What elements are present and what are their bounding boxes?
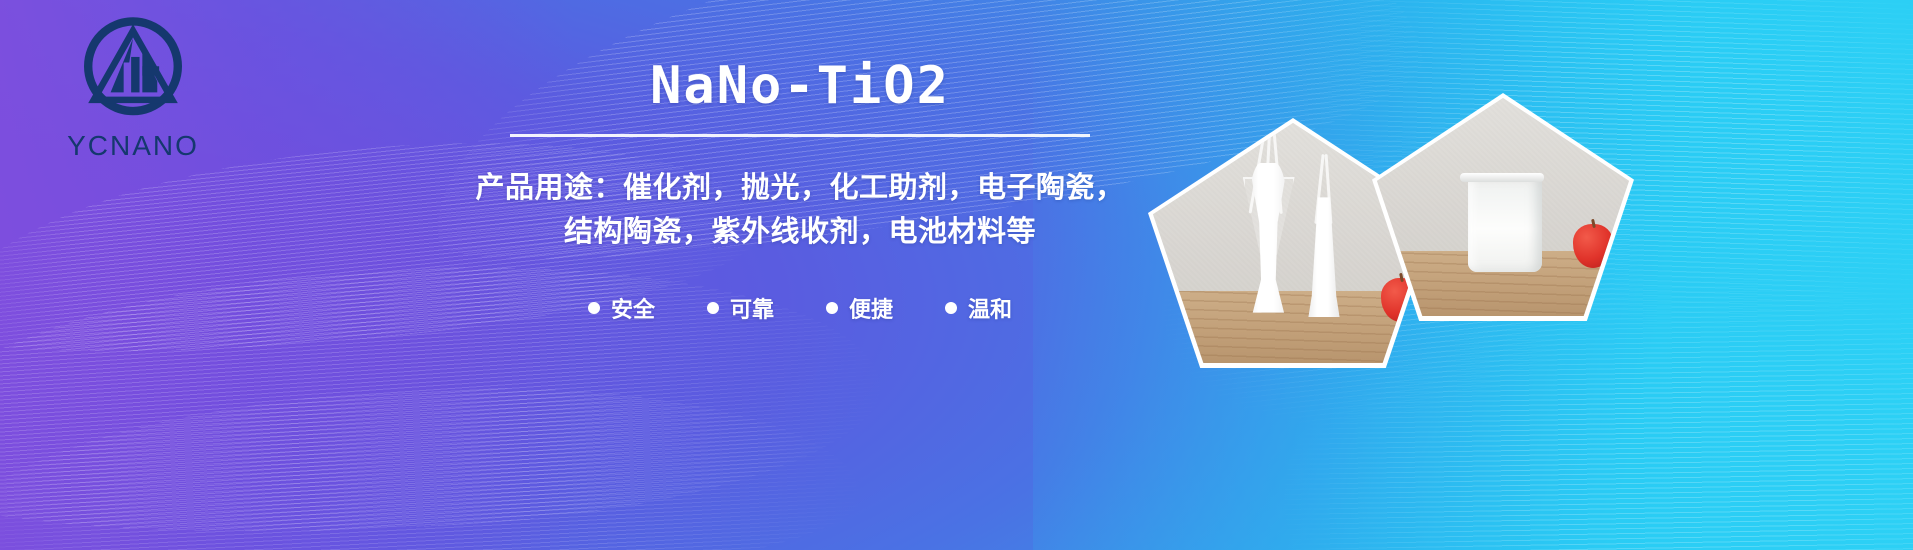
feature-label: 可靠 [730, 292, 774, 324]
beaker [1468, 176, 1542, 272]
product-banner: YCNANO NaNo-TiO2 产品用途：催化剂，抛光，化工助剂，电子陶瓷， … [0, 0, 1913, 550]
banner-content: NaNo-TiO2 产品用途：催化剂，抛光，化工助剂，电子陶瓷， 结构陶瓷，紫外… [470, 60, 1130, 324]
usage-line-2: 结构陶瓷，紫外线收剂，电池材料等 [470, 211, 1130, 255]
feature-label: 温和 [968, 292, 1012, 324]
feature-item-safe: 安全 [588, 292, 655, 324]
feature-list: 安全 可靠 便捷 温和 [470, 292, 1130, 324]
title-divider [510, 134, 1090, 137]
feature-item-convenient: 便捷 [826, 292, 893, 324]
filled-dot-icon [945, 302, 957, 314]
product-title: NaNo-TiO2 [470, 60, 1130, 112]
feature-label: 便捷 [849, 292, 893, 324]
filled-dot-icon [826, 302, 838, 314]
beaker-rim [1460, 173, 1544, 182]
ycnano-logo-icon [77, 14, 189, 126]
brand-logo[interactable]: YCNANO [38, 14, 228, 162]
feature-item-reliable: 可靠 [707, 292, 774, 324]
brand-wordmark: YCNANO [38, 130, 228, 162]
filled-dot-icon [588, 302, 600, 314]
usage-line-1: 产品用途：催化剂，抛光，化工助剂，电子陶瓷， [470, 167, 1130, 211]
feature-item-mild: 温和 [945, 292, 1012, 324]
feature-label: 安全 [611, 292, 655, 324]
product-usage-text: 产品用途：催化剂，抛光，化工助剂，电子陶瓷， 结构陶瓷，紫外线收剂，电池材料等 [470, 167, 1130, 254]
filled-dot-icon [707, 302, 719, 314]
